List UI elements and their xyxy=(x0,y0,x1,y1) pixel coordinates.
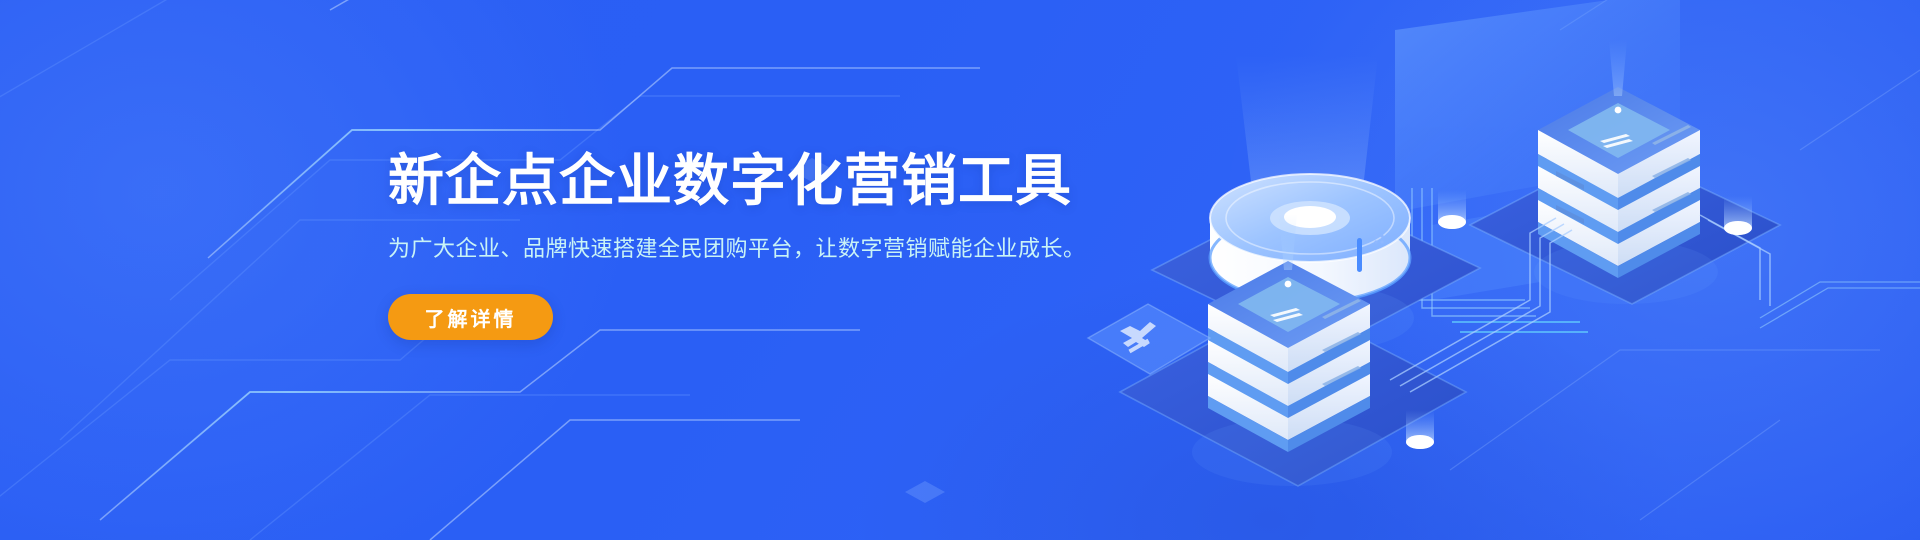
pill-marker-front-icon xyxy=(1406,410,1434,449)
promo-banner: 新企点企业数字化营销工具 为广大企业、品牌快速搭建全民团购平台，让数字营销赋能企… xyxy=(0,0,1920,540)
hero-illustration xyxy=(1060,0,1920,540)
pill-marker-icon xyxy=(1438,190,1466,229)
learn-more-button[interactable]: 了解详情 xyxy=(388,294,553,340)
pill-marker-right-icon xyxy=(1724,196,1752,235)
